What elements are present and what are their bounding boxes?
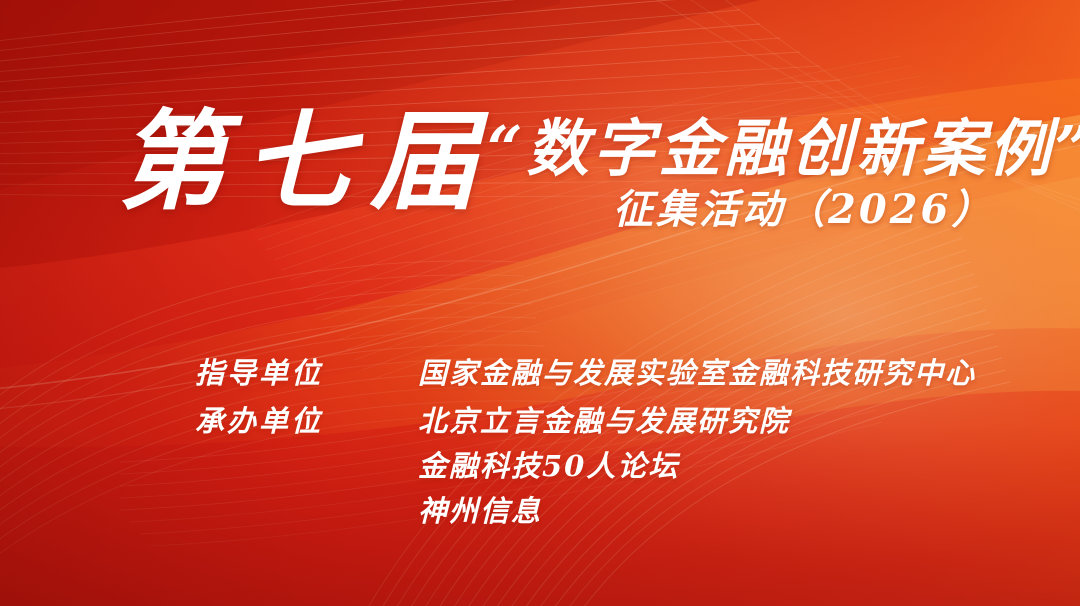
page-title: 第七届 <box>118 108 496 216</box>
credit-value-organizer-0: 北京立言金融与发展研究院 <box>418 400 790 442</box>
subtitle: 征集活动（2026） <box>613 190 994 230</box>
credit-value-organizer-1: 金融科技50人论坛 <box>418 445 679 487</box>
poster-content: 第七届 “数字金融创新案例” 征集活动（2026） 指导单位 国家金融与发展实验… <box>0 0 1080 606</box>
poster-canvas: 第七届 “数字金融创新案例” 征集活动（2026） 指导单位 国家金融与发展实验… <box>0 0 1080 606</box>
credit-value-organizer-2: 神州信息 <box>418 490 542 532</box>
title-block: 第七届 “数字金融创新案例” 征集活动（2026） <box>0 0 1080 260</box>
credit-label-guidance: 指导单位 <box>195 352 425 394</box>
credit-label-organizer: 承办单位 <box>195 400 425 442</box>
credit-value-guidance-0: 国家金融与发展实验室金融科技研究中心 <box>418 352 976 394</box>
theme-title: “数字金融创新案例” <box>487 118 1080 180</box>
